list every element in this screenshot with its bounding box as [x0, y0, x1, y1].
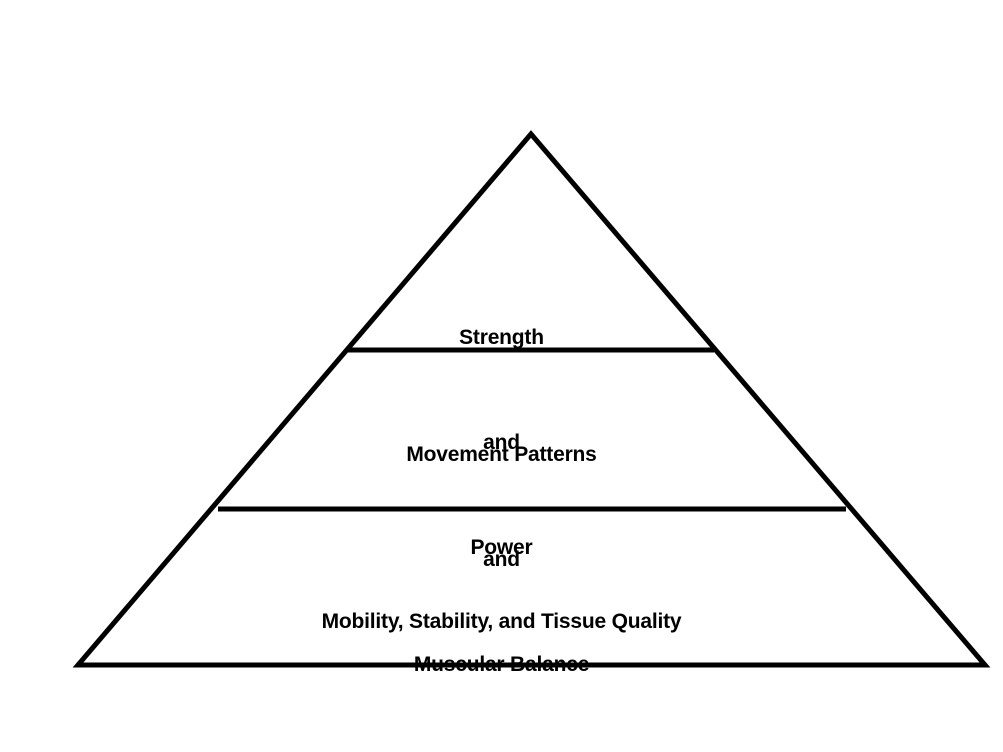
pyramid-diagram: Strength and Power Movement Patterns and…	[0, 0, 1003, 698]
tier-middle-line-1: Movement Patterns	[0, 437, 1003, 472]
tier-top-line-1: Strength	[0, 320, 1003, 355]
tier-label-bottom: Mobility, Stability, and Tissue Quality	[0, 534, 1003, 709]
tier-bottom-line-1: Mobility, Stability, and Tissue Quality	[0, 604, 1003, 639]
